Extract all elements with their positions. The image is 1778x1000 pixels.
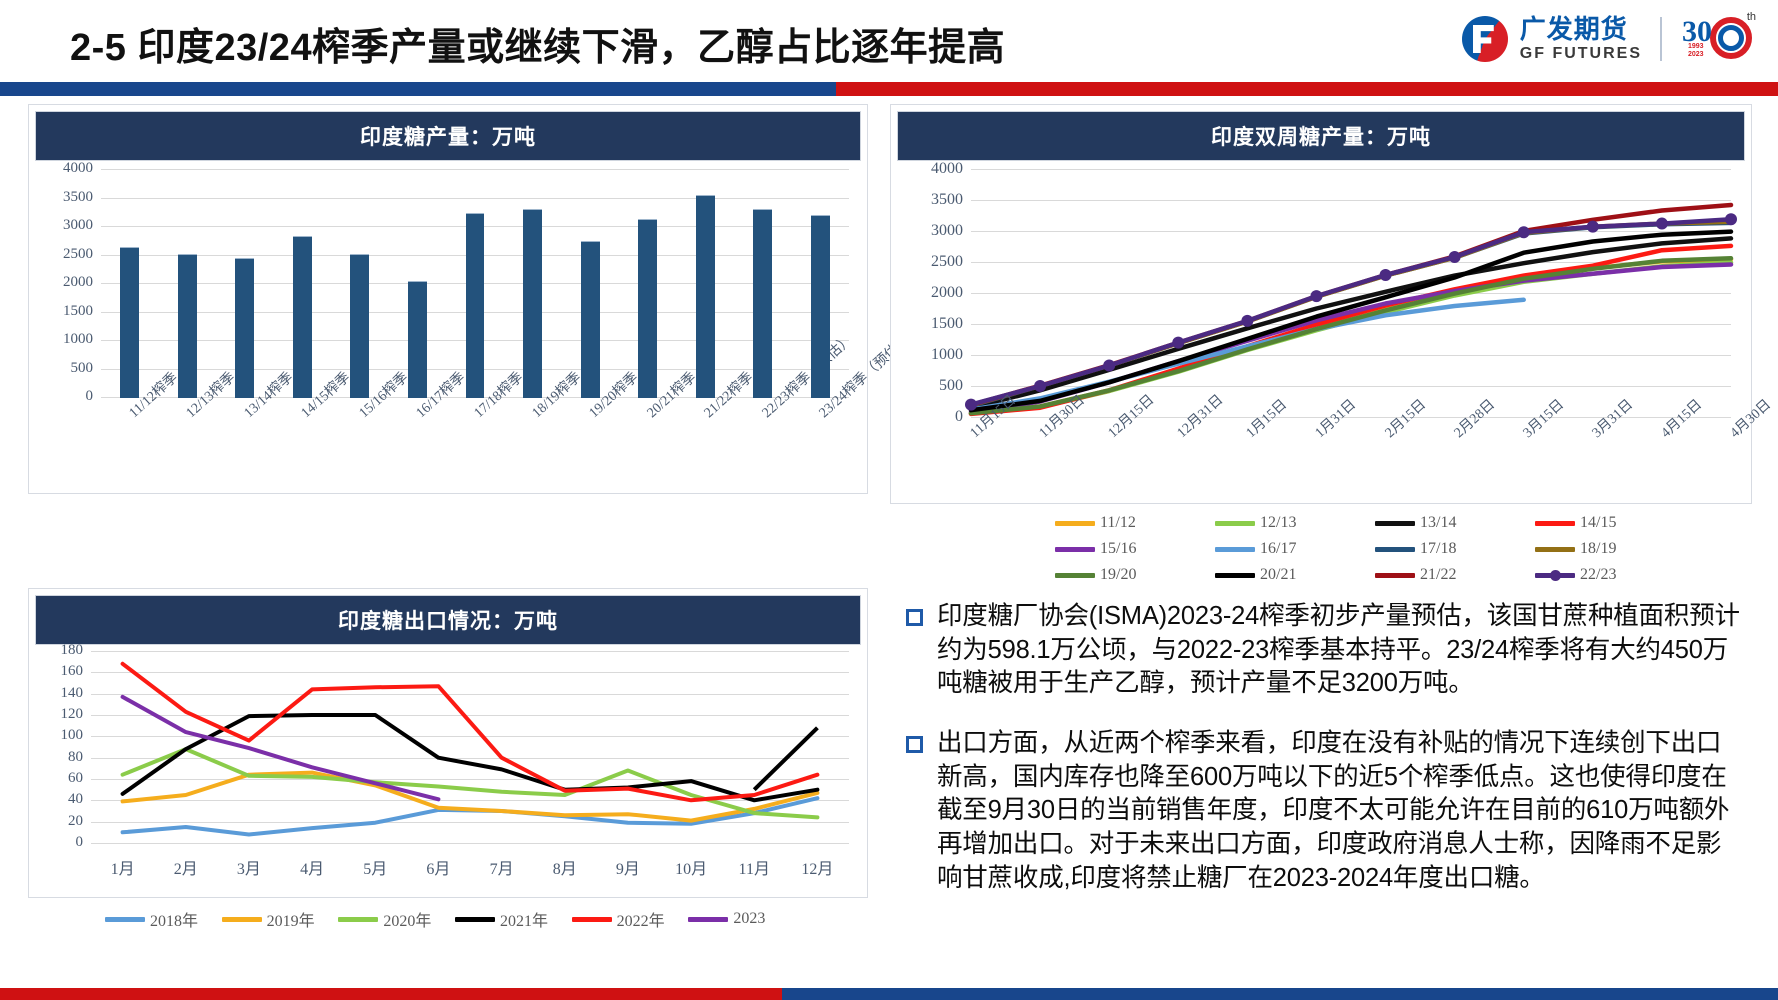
bar[interactable]: [408, 281, 427, 398]
legend-item[interactable]: 20/21: [1215, 566, 1375, 584]
y-axis-tick-label: 3000: [29, 217, 93, 234]
y-axis-tick-label: 2500: [29, 246, 93, 263]
y-axis-tick-label: 1000: [29, 331, 93, 348]
y-axis-tick-label: 500: [29, 360, 93, 377]
legend-color-swatch: [105, 917, 145, 922]
data-point-marker[interactable]: [1241, 315, 1253, 327]
legend-label: 2022年: [617, 907, 665, 931]
legend-color-swatch: [1375, 573, 1415, 578]
legend-color-swatch: [688, 917, 728, 922]
y-axis-tick-label: 3500: [29, 189, 93, 206]
data-point-marker[interactable]: [1034, 380, 1046, 392]
legend-item[interactable]: 2019年: [222, 907, 339, 931]
chart-panel-india-sugar-exports: 印度糖出口情况：万吨 0204060801001201401601801月2月3…: [28, 588, 868, 898]
chart-panel-india-fortnightly-production: 印度双周糖产量：万吨 05001000150020002500300035004…: [890, 104, 1752, 504]
legend-color-swatch: [1215, 521, 1255, 526]
data-point-marker[interactable]: [1587, 221, 1599, 233]
legend-label: 22/23: [1580, 566, 1616, 584]
legend-color-swatch: [1055, 573, 1095, 578]
list-item: 印度糖厂协会(ISMA)2023-24榨季初步产量预估，该国甘蔗种植面积预计约为…: [906, 600, 1746, 701]
x-axis-tick-label: 4月: [277, 855, 347, 879]
bullet-paragraph: 印度糖厂协会(ISMA)2023-24榨季初步产量预估，该国甘蔗种植面积预计约为…: [937, 600, 1746, 701]
legend-item[interactable]: 12/13: [1215, 514, 1375, 532]
chart-title: 印度糖产量：万吨: [35, 111, 861, 161]
legend-item[interactable]: 2021年: [455, 907, 572, 931]
chart-legend-fortnightly: 11/1212/1313/1414/1515/1616/1717/1818/19…: [1055, 512, 1695, 586]
x-axis-tick-label: 6月: [403, 855, 473, 879]
footer-rule: [0, 988, 1778, 1000]
legend-color-swatch: [1535, 521, 1575, 526]
grid-line: [101, 198, 849, 199]
legend-label: 14/15: [1580, 514, 1616, 532]
grid-line: [101, 169, 849, 170]
legend-label: 17/18: [1420, 540, 1456, 558]
x-axis-tick-label: 10月: [656, 855, 726, 879]
footer-rule-red: [0, 988, 782, 1000]
data-point-marker[interactable]: [1380, 269, 1392, 281]
x-axis-tick-label: 8月: [530, 855, 600, 879]
legend-color-swatch: [1535, 547, 1575, 552]
bullet-square-icon: [906, 609, 923, 626]
data-point-marker[interactable]: [1172, 337, 1184, 349]
legend-color-swatch: [1055, 547, 1095, 552]
slide-header: 2-5 印度23/24榨季产量或继续下滑，乙醇占比逐年提高 广发期货 GF FU…: [0, 0, 1778, 82]
bar[interactable]: [120, 247, 139, 398]
x-axis-tick-label: 11月: [719, 855, 789, 879]
chart-title: 印度糖出口情况：万吨: [35, 595, 861, 645]
anniversary-suffix: th: [1747, 11, 1756, 23]
x-axis-tick-label: 5月: [340, 855, 410, 879]
legend-label: 11/12: [1100, 514, 1136, 532]
data-point-marker[interactable]: [965, 399, 977, 411]
legend-color-swatch: [1215, 547, 1255, 552]
legend-label: 16/17: [1260, 540, 1296, 558]
logo-divider: [1660, 17, 1662, 61]
header-rule-red: [836, 82, 1778, 96]
x-axis-tick-label: 7月: [467, 855, 537, 879]
bar[interactable]: [178, 254, 197, 398]
anniversary-inner-ring-icon: [1718, 25, 1744, 51]
y-axis-tick-label: 0: [29, 388, 93, 405]
gf-logo-icon: [1462, 16, 1508, 62]
legend-item[interactable]: 17/18: [1375, 540, 1535, 558]
legend-label: 20/21: [1260, 566, 1296, 584]
anniversary-years: 19932023: [1688, 43, 1704, 59]
commentary-list: 印度糖厂协会(ISMA)2023-24榨季初步产量预估，该国甘蔗种植面积预计约为…: [906, 600, 1746, 921]
legend-label: 2020年: [383, 907, 431, 931]
legend-color-swatch: [455, 917, 495, 922]
legend-color-swatch: [1535, 573, 1575, 578]
legend-color-swatch: [1055, 521, 1095, 526]
legend-item[interactable]: 15/16: [1055, 540, 1215, 558]
brand-logo: 广发期货 GF FUTURES 30 19932023 th: [1462, 8, 1754, 70]
y-axis-tick-label: 4000: [29, 160, 93, 177]
brand-name-cn: 广发期货: [1520, 16, 1642, 42]
legend-item[interactable]: 14/15: [1535, 514, 1695, 532]
legend-item[interactable]: 11/12: [1055, 514, 1215, 532]
anniversary-badge-icon: 30 19932023 th: [1680, 13, 1754, 65]
legend-label: 2023: [733, 910, 765, 928]
bar[interactable]: [753, 209, 772, 398]
bullet-paragraph: 出口方面，从近两个榨季来看，印度在没有补贴的情况下连续创下出口新高，国内库存也降…: [937, 727, 1746, 895]
legend-label: 19/20: [1100, 566, 1136, 584]
chart-plot-area: 0500100015002000250030003500400011月15日11…: [891, 155, 1751, 503]
legend-label: 2018年: [150, 907, 198, 931]
bullet-square-icon: [906, 736, 923, 753]
y-axis-tick-label: 2000: [29, 274, 93, 291]
bar[interactable]: [523, 209, 542, 398]
legend-label: 15/16: [1100, 540, 1136, 558]
bar[interactable]: [581, 241, 600, 398]
bar[interactable]: [638, 219, 657, 398]
x-axis-tick-label: 1月: [88, 855, 158, 879]
legend-item[interactable]: 21/22: [1375, 566, 1535, 584]
legend-label: 2021年: [500, 907, 548, 931]
legend-color-swatch: [572, 917, 612, 922]
bar[interactable]: [293, 236, 312, 398]
legend-label: 13/14: [1420, 514, 1456, 532]
legend-color-swatch: [1375, 521, 1415, 526]
x-axis-tick-label: 9月: [593, 855, 663, 879]
list-item: 出口方面，从近两个榨季来看，印度在没有补贴的情况下连续创下出口新高，国内库存也降…: [906, 727, 1746, 895]
brand-name-en: GF FUTURES: [1520, 46, 1642, 62]
legend-item[interactable]: 2022年: [572, 907, 689, 931]
bar[interactable]: [696, 195, 715, 398]
data-point-marker[interactable]: [1518, 226, 1530, 238]
legend-color-swatch: [338, 917, 378, 922]
bar[interactable]: [350, 254, 369, 398]
chart-legend-exports: 2018年2019年2020年2021年2022年2023: [105, 905, 805, 933]
bar[interactable]: [466, 213, 485, 398]
data-point-marker[interactable]: [1310, 290, 1322, 302]
legend-item[interactable]: 19/20: [1055, 566, 1215, 584]
chart-title: 印度双周糖产量：万吨: [897, 111, 1745, 161]
legend-item[interactable]: 13/14: [1375, 514, 1535, 532]
chart-plot-area: 0500100015002000250030003500400011/12榨季1…: [29, 155, 867, 493]
legend-item[interactable]: 2023: [688, 907, 805, 931]
legend-item[interactable]: 22/23: [1535, 566, 1695, 584]
footer-rule-blue: [782, 988, 1778, 1000]
header-rule: [0, 82, 1778, 96]
legend-color-swatch: [222, 917, 262, 922]
x-axis-tick-label: 3月: [214, 855, 284, 879]
data-point-marker[interactable]: [1656, 218, 1668, 230]
bar[interactable]: [811, 215, 830, 398]
legend-label: 2019年: [267, 907, 315, 931]
legend-item[interactable]: 2018年: [105, 907, 222, 931]
legend-label: 21/22: [1420, 566, 1456, 584]
data-point-marker[interactable]: [1103, 360, 1115, 372]
x-axis-tick-label: 12月: [782, 855, 852, 879]
legend-item[interactable]: 16/17: [1215, 540, 1375, 558]
chart-plot-area: 0204060801001201401601801月2月3月4月5月6月7月8月…: [29, 639, 867, 897]
legend-item[interactable]: 18/19: [1535, 540, 1695, 558]
legend-color-swatch: [1375, 547, 1415, 552]
legend-item[interactable]: 2020年: [338, 907, 455, 931]
line-series: [754, 728, 817, 790]
header-rule-blue: [0, 82, 836, 96]
legend-label: 18/19: [1580, 540, 1616, 558]
bar[interactable]: [235, 258, 254, 398]
line-series-layer: [891, 155, 1751, 503]
chart-panel-india-sugar-production: 印度糖产量：万吨 0500100015002000250030003500400…: [28, 104, 868, 494]
data-point-marker[interactable]: [1725, 213, 1737, 225]
legend-color-swatch: [1215, 573, 1255, 578]
legend-label: 12/13: [1260, 514, 1296, 532]
x-axis-tick-label: 2月: [151, 855, 221, 879]
y-axis-tick-label: 1500: [29, 303, 93, 320]
data-point-marker[interactable]: [1449, 251, 1461, 263]
page-title: 2-5 印度23/24榨季产量或继续下滑，乙醇占比逐年提高: [70, 16, 1005, 71]
brand-text: 广发期货 GF FUTURES: [1520, 16, 1642, 62]
